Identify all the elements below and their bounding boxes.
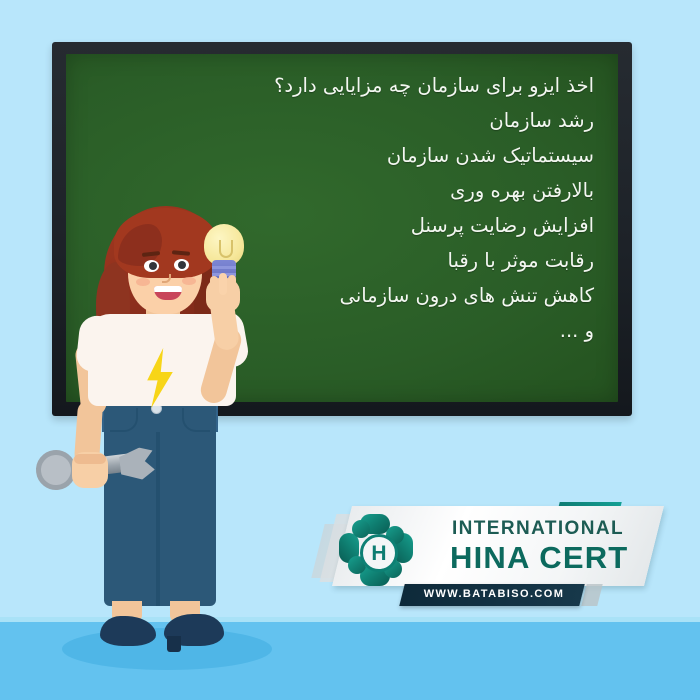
- finger-2: [219, 273, 227, 295]
- finger-1: [210, 276, 218, 296]
- logo-url-text[interactable]: WWW.BATABISO.COM: [412, 588, 576, 600]
- hina-cert-logo[interactable]: H INTERNATIONAL HINA CERT WWW.BATABISO.C…: [316, 500, 668, 610]
- lightbulb-base-ridge-1: [212, 266, 236, 269]
- pupil-right: [178, 261, 186, 269]
- board-line-1: اخذ ایزو برای سازمان چه مزایایی دارد؟: [90, 68, 594, 103]
- blush-left: [136, 278, 150, 286]
- illustration-scene: اخذ ایزو برای سازمان چه مزایایی دارد؟ رش…: [0, 0, 700, 700]
- character-illustration: [52, 196, 282, 676]
- teeth: [154, 286, 182, 292]
- lightbulb-filament: [219, 240, 233, 258]
- knuckles-left: [74, 454, 106, 464]
- logo-url-band-tail: [581, 584, 602, 606]
- emblem-node-1: [352, 520, 370, 538]
- jeans-pocket-right: [182, 408, 210, 432]
- logo-line-international: INTERNATIONAL: [452, 518, 624, 540]
- board-line-2: رشد سازمان: [90, 103, 594, 138]
- pupil-left: [149, 262, 157, 270]
- logo-line-hina-cert: HINA CERT: [450, 540, 628, 576]
- hina-emblem-icon: H: [338, 512, 414, 588]
- finger-3: [228, 275, 236, 296]
- board-line-3: سیستماتیک شدن سازمان: [90, 138, 594, 173]
- emblem-core: H: [360, 534, 398, 572]
- jeans-seam: [156, 432, 160, 606]
- shoe-heel-right: [167, 636, 181, 652]
- shoe-left: [100, 616, 156, 646]
- emblem-letter: H: [371, 543, 386, 564]
- blush-right: [182, 277, 196, 285]
